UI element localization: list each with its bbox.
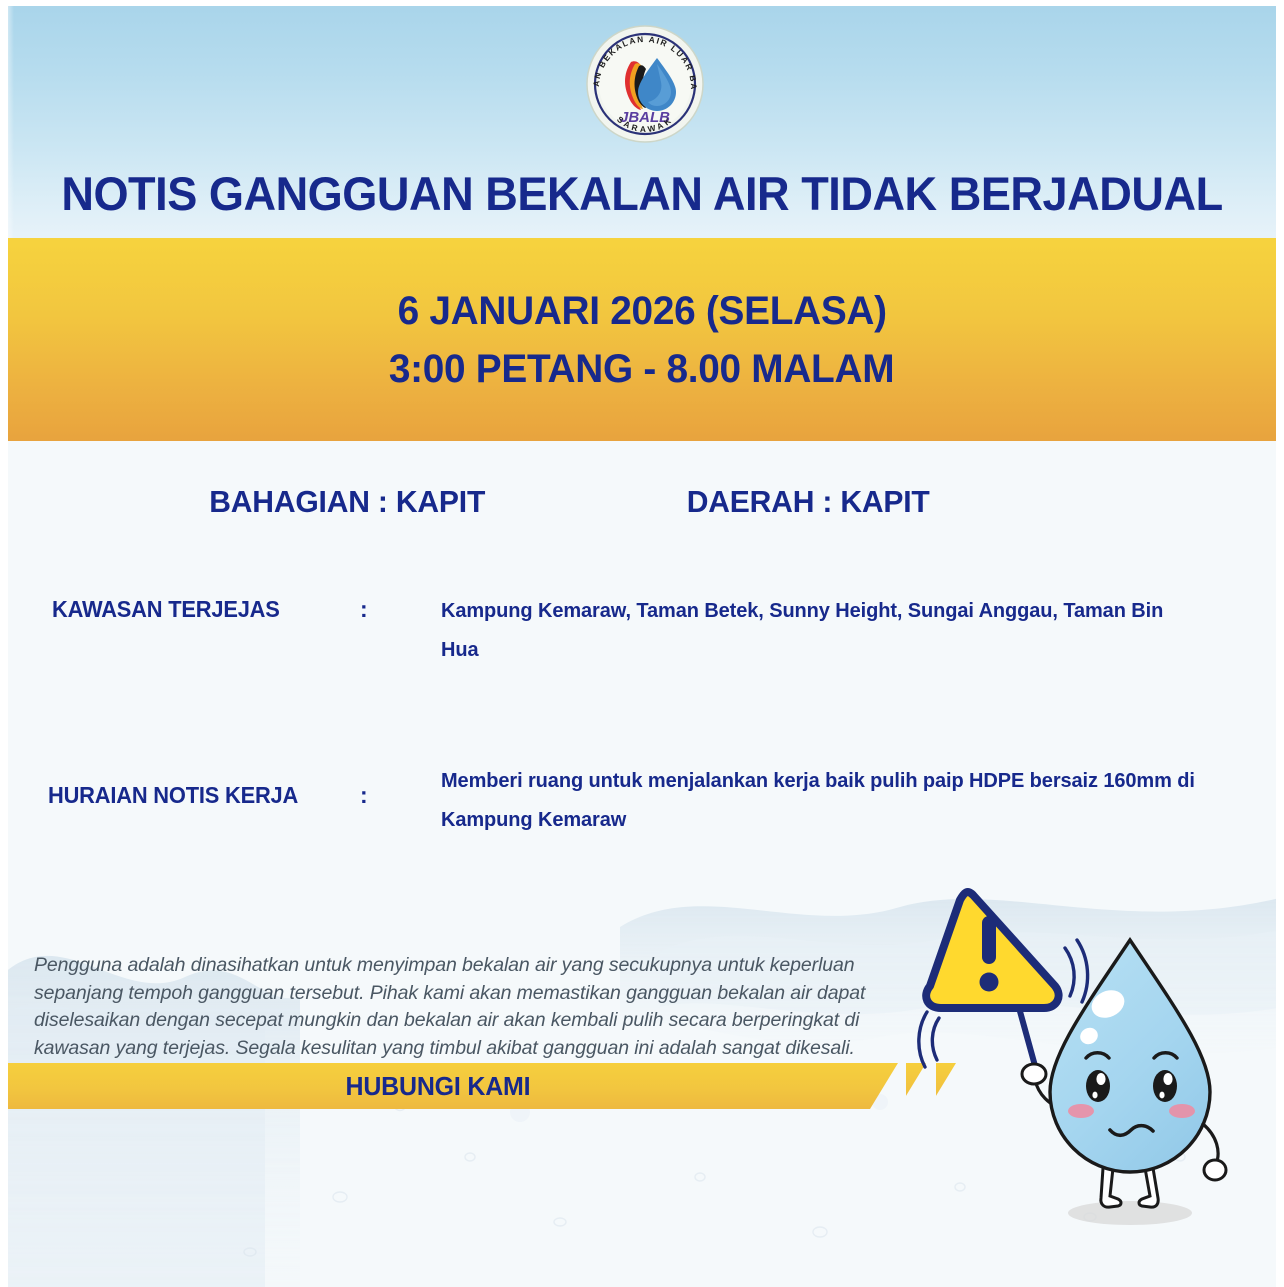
contact-us-title: HUBUNGI KAMI [345,1071,530,1102]
warning-sign [926,892,1058,1008]
water-droplet-mascot [905,868,1284,1287]
notice-date: 6 JANUARI 2026 (SELASA) [397,282,886,340]
work-description-colon: : [360,782,368,809]
division-label: BAHAGIAN : KAPIT [209,484,485,520]
region-row: BAHAGIAN : KAPIT DAERAH : KAPIT [0,484,1284,536]
affected-areas-colon: : [360,596,368,623]
notice-poster: JBALB JABATAN BEKALAN AIR LUAR BANDAR SA… [0,0,1284,1287]
jbalb-logo-icon: JBALB JABATAN BEKALAN AIR LUAR BANDAR SA… [583,22,707,146]
mascot-illustration [905,868,1284,1287]
page-edge-right [1276,0,1284,1287]
date-time-banner: 6 JANUARI 2026 (SELASA) 3:00 PETANG - 8.… [8,238,1276,441]
notice-time: 3:00 PETANG - 8.00 MALAM [389,340,894,398]
work-description-label: HURAIAN NOTIS KERJA [48,782,298,809]
jbalb-logo: JBALB JABATAN BEKALAN AIR LUAR BANDAR SA… [583,22,707,146]
contact-us-bar: HUBUNGI KAMI [8,1063,898,1109]
advisory-paragraph: Pengguna adalah dinasihatkan untuk menyi… [34,952,900,1063]
affected-areas-label: KAWASAN TERJEJAS [52,596,280,623]
work-description-value: Memberi ruang untuk menjalankan kerja ba… [441,762,1201,840]
page-edge-left [0,0,8,1287]
district-label: DAERAH : KAPIT [687,484,930,520]
affected-areas-value: Kampung Kemaraw, Taman Betek, Sunny Heig… [441,592,1201,670]
page-title: NOTIS GANGGUAN BEKALAN AIR TIDAK BERJADU… [26,166,1259,221]
